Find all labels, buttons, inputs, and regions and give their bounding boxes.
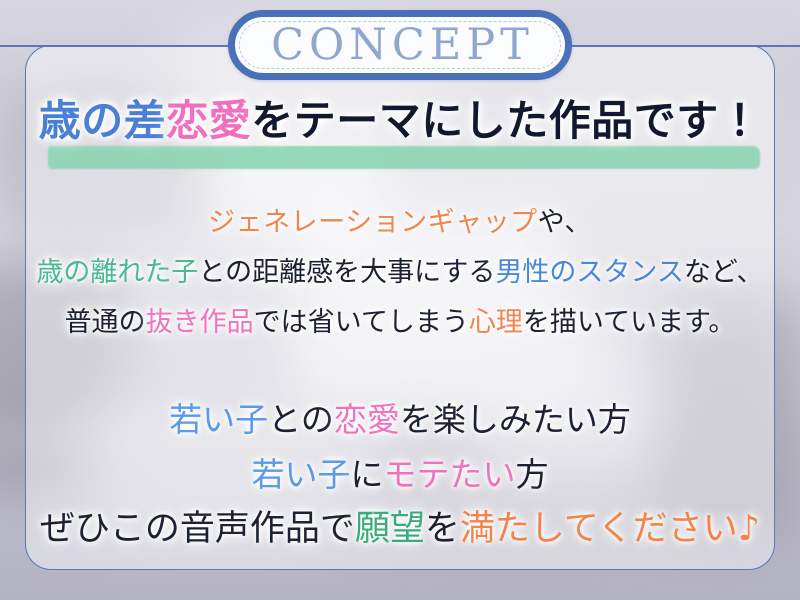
badge-rule-left bbox=[0, 45, 233, 47]
concept-slide: CONCEPT 歳の差恋愛をテーマにした作品です！ ジェネレーションギャップや、… bbox=[0, 0, 800, 600]
concept-badge-label: CONCEPT bbox=[266, 24, 534, 67]
badge-rule-right bbox=[567, 45, 800, 47]
content-frame bbox=[25, 45, 775, 570]
concept-badge: CONCEPT bbox=[228, 10, 572, 80]
